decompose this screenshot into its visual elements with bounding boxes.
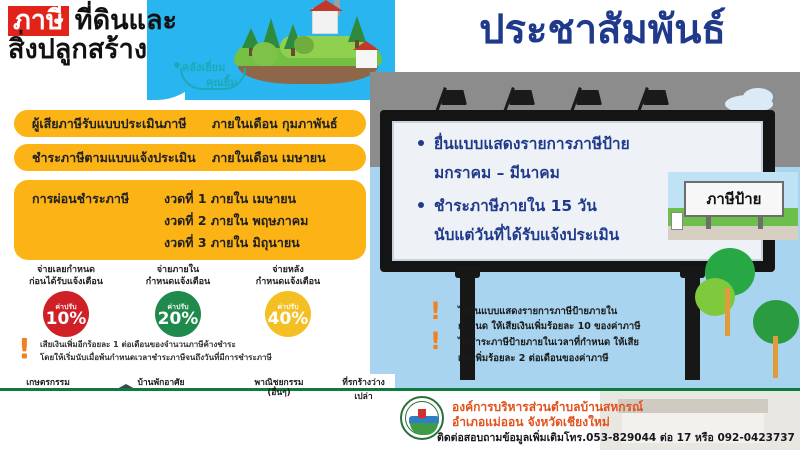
- billboard-lamp: [435, 82, 469, 112]
- penalty-2-caption-1: จ่ายภายใน: [118, 264, 238, 276]
- penalty-1-percent: 10%: [46, 311, 87, 328]
- penalty-3-circle: ค่าปรับ 40%: [265, 291, 311, 337]
- left-panel: ภาษี ที่ดินและ สิ่งปลูกสร้าง คลังเยี่ยม …: [0, 0, 395, 450]
- installment-item-2: งวดที่ 2 ภายใน พฤษภาคม: [164, 211, 308, 231]
- schedule-row-1-value: ภายในเดือน กุมภาพันธ์: [212, 114, 338, 134]
- billboard-lamp: [503, 82, 537, 112]
- warning-line-2: กำหนด ให้เสียเงินเพิ่มร้อยละ 10 ของค่าภา…: [458, 319, 641, 334]
- billboard-bullet-1-line-1: ยื่นแบบแสดงรายการภาษีป้าย: [434, 131, 630, 156]
- billboard-bullet-1-line-2: มกราคม – มีนาคม: [434, 160, 560, 185]
- penalty-3-caption-2: กำหนดแจ้งเตือน: [228, 276, 348, 288]
- billboard-bullet-2-line-1: ชำระภาษีภายใน 15 วัน: [434, 193, 597, 218]
- brand-line-2: คุณยิ้ม: [206, 73, 237, 91]
- penalty-note-line-2: โดยให้เริ่มนับเมื่อพ้นกำหนดเวลาชำระภาษีจ…: [40, 351, 272, 364]
- brand-badge: คลังเยี่ยม คุณยิ้ม: [166, 58, 271, 96]
- tax-chip: ภาษี: [8, 6, 69, 36]
- penalty-3-small-label: ค่าปรับ: [277, 304, 298, 311]
- installment-item-1: งวดที่ 1 ภายใน เมษายน: [164, 189, 296, 209]
- schedule-row-1-label: ผู้เสียภาษีรับแบบประเมินภาษี: [32, 114, 187, 134]
- cloud-icon: [743, 88, 773, 106]
- schedule-row-2-label: ชำระภาษีตามแบบแจ้งประเมิน: [32, 148, 196, 168]
- warning-line-4: เงินเพิ่มร้อยละ 2 ต่อเดือนของค่าภาษี: [458, 351, 609, 366]
- installment-box: การผ่อนชำระภาษี งวดที่ 1 ภายใน เมษายน งว…: [14, 180, 366, 260]
- infographic-page: ภาษี ที่ดินและ สิ่งปลูกสร้าง คลังเยี่ยม …: [0, 0, 800, 450]
- warning-line-3: ไม่ชำระภาษีป้ายภายในเวลาที่กำหนด ให้เสีย: [458, 335, 639, 350]
- penalty-2-small-label: ค่าปรับ: [167, 304, 188, 311]
- penalty-2-caption-2: กำหนดแจ้งเตือน: [118, 276, 238, 288]
- land-category-3-sublabel: (อื่นๆ): [226, 385, 332, 399]
- installment-heading: การผ่อนชำระภาษี: [32, 189, 129, 209]
- billboard-lamp: [637, 82, 671, 112]
- exclamation-icon: !: [18, 338, 31, 360]
- schedule-row-1: ผู้เสียภาษีรับแบบประเมินภาษี ภายในเดือน …: [14, 110, 366, 137]
- warning-line-1: ไม่ยื่นแบบแสดงรายการภาษีป้ายภายใน: [458, 304, 617, 319]
- land-category-4-label: ที่รกร้างว่างเปล่า: [334, 375, 393, 403]
- penalty-2-circle: ค่าปรับ 20%: [155, 291, 201, 337]
- penalty-2-percent: 20%: [158, 311, 199, 328]
- penalty-1-caption-2: ก่อนได้รับแจ้งเตือน: [6, 276, 126, 288]
- tree-illustration: [747, 300, 800, 380]
- penalty-1-small-label: ค่าปรับ: [55, 304, 76, 311]
- penalty-3-caption-1: จ่ายหลัง: [228, 264, 348, 276]
- penalty-3-percent: 40%: [268, 311, 309, 328]
- penalty-note-line-1: เสียเงินเพิ่มอีกร้อยละ 1 ต่อเดือนของจำนว…: [40, 338, 236, 351]
- schedule-row-2-value: ภายในเดือน เมษายน: [212, 148, 326, 168]
- pr-title: ประชาสัมพันธ์: [405, 8, 800, 52]
- footer-contact: ติดต่อสอบถามข้อมูลเพิ่มเติมโทร.053-82904…: [437, 429, 795, 446]
- penalty-group-3: จ่ายหลัง กำหนดแจ้งเตือน ค่าปรับ 40%: [228, 264, 348, 337]
- house-icon: [312, 8, 338, 34]
- penalty-1-circle: ค่าปรับ 10%: [43, 291, 89, 337]
- bullet-dot-icon: [418, 140, 424, 146]
- title-line-1: ที่ดินและ: [75, 6, 177, 37]
- land-category-2-label: บ้านพักอาศัย: [98, 375, 224, 389]
- signboard-tax-badge: ภาษีป้าย: [668, 172, 798, 240]
- penalty-group-2: จ่ายภายใน กำหนดแจ้งเตือน ค่าปรับ 20%: [118, 264, 238, 337]
- exclamation-icon: !: [430, 332, 441, 351]
- land-category-1-label: เกษตรกรรม: [0, 375, 96, 389]
- installment-item-3: งวดที่ 3 ภายใน มิถุนายน: [164, 233, 300, 253]
- house-icon: [356, 48, 377, 68]
- page-title: ภาษี ที่ดินและ สิ่งปลูกสร้าง: [8, 6, 238, 66]
- exclamation-icon: !: [430, 302, 441, 321]
- billboard-bullet-2-line-2: นับแต่วันที่ได้รับแจ้งประเมิน: [434, 222, 619, 247]
- bullet-dot-icon: [418, 202, 424, 208]
- penalty-group-1: จ่ายเลยกำหนด ก่อนได้รับแจ้งเตือน ค่าปรับ…: [6, 264, 126, 337]
- billboard-lamp: [570, 82, 604, 112]
- signboard-tax-badge-label: ภาษีป้าย: [684, 187, 784, 211]
- schedule-row-2: ชำระภาษีตามแบบแจ้งประเมิน ภายในเดือน เมษ…: [14, 144, 366, 171]
- penalty-1-caption-1: จ่ายเลยกำหนด: [6, 264, 126, 276]
